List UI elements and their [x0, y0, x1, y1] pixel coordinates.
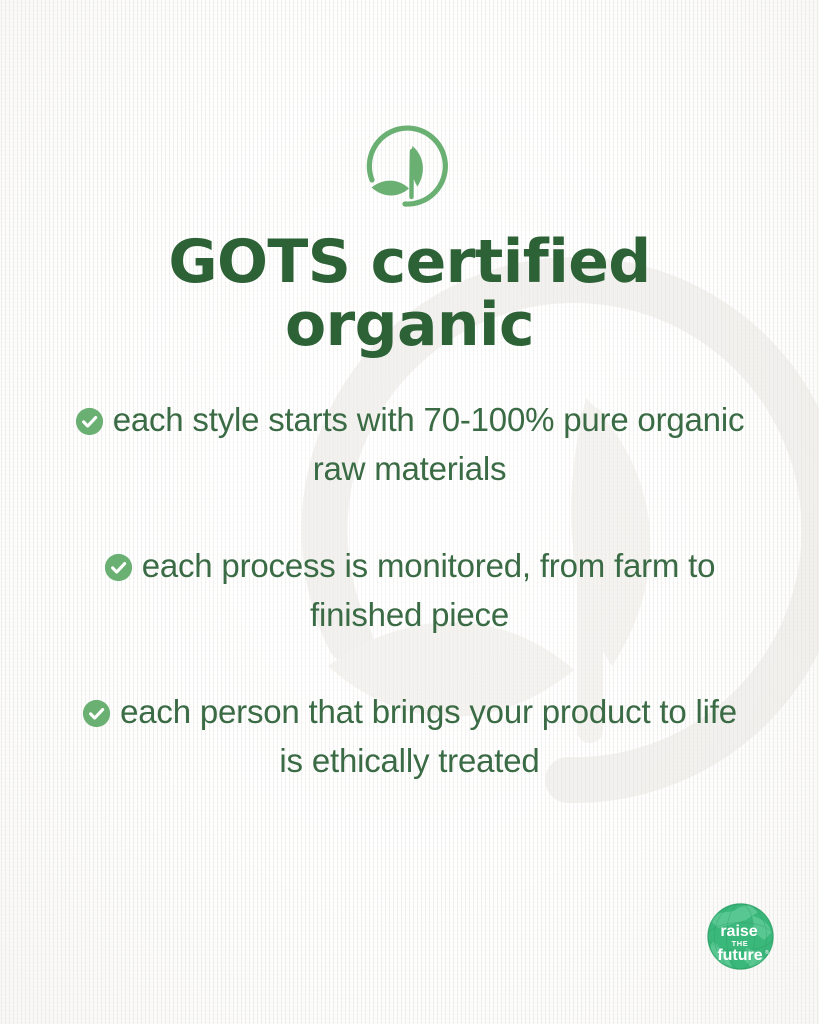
leaf-in-circle-icon — [360, 118, 460, 214]
list-item: each person that brings your product to … — [0, 687, 819, 785]
benefits-list: each style starts with 70-100% pure orga… — [0, 395, 819, 785]
badge-trademark: ® — [765, 949, 769, 956]
list-item: each process is monitored, from farm to … — [0, 541, 819, 639]
badge-line-3: future — [717, 947, 762, 964]
poster-content: GOTS certified organic each style starts… — [0, 0, 819, 1024]
page-title: GOTS certified organic — [0, 231, 819, 357]
list-item-label: each person that brings your product to … — [120, 693, 737, 779]
raise-the-future-logo[interactable]: raise THE future ® — [706, 902, 775, 971]
list-item: each style starts with 70-100% pure orga… — [0, 395, 819, 493]
check-circle-icon — [104, 553, 133, 582]
list-item-label: each style starts with 70-100% pure orga… — [113, 401, 745, 487]
list-item-label: each process is monitored, from farm to … — [142, 547, 716, 633]
check-circle-icon — [75, 407, 104, 436]
check-circle-icon — [82, 699, 111, 728]
badge-line-1: raise — [720, 923, 757, 940]
poster-canvas: GOTS certified organic each style starts… — [0, 0, 819, 1024]
